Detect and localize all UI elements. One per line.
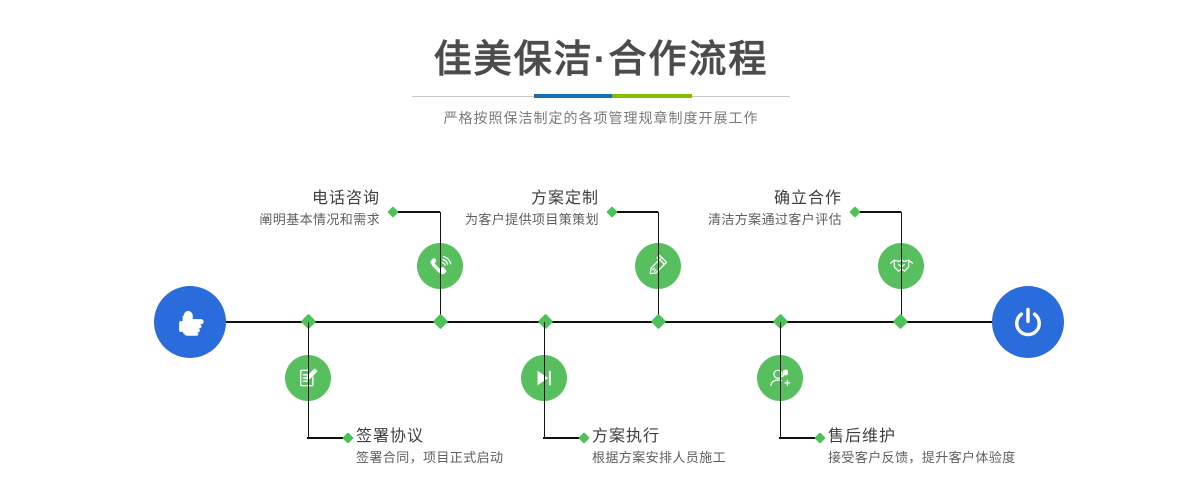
step-label-3: 方案定制 为客户提供项目策策划 — [465, 188, 599, 230]
connector-step-1-horizontal — [395, 211, 440, 213]
step-desc-2: 签署合同，项目正式启动 — [356, 448, 503, 468]
connector-step-6-horizontal — [779, 437, 819, 439]
connector-step-6-vertical — [780, 322, 782, 438]
connector-step-3-vertical — [658, 212, 660, 322]
step-label-1: 电话咨询 阐明基本情况和需求 — [259, 188, 380, 230]
pointing-hand-icon — [170, 302, 210, 342]
axis-marker-step-4 — [538, 314, 554, 330]
connector-step-1-vertical — [440, 212, 442, 322]
connector-step-2-vertical — [308, 322, 310, 438]
step-title-6: 售后维护 — [828, 426, 1016, 448]
label-marker-step-2 — [342, 432, 353, 443]
timeline-end-node[interactable] — [992, 286, 1064, 358]
step-desc-1: 阐明基本情况和需求 — [259, 210, 380, 230]
timeline-start-node[interactable] — [154, 286, 226, 358]
connector-step-5-horizontal — [857, 211, 901, 213]
connector-step-2-horizontal — [307, 437, 347, 439]
label-marker-step-6 — [814, 432, 825, 443]
connector-step-5-vertical — [901, 212, 903, 322]
power-icon — [1008, 302, 1048, 342]
step-label-6: 售后维护 接受客户反馈，提升客户体验度 — [828, 426, 1016, 468]
step-desc-5: 清洁方案通过客户评估 — [708, 210, 842, 230]
connector-step-4-vertical — [544, 322, 546, 438]
label-marker-step-4 — [578, 432, 589, 443]
axis-marker-step-3 — [433, 314, 449, 330]
step-title-3: 方案定制 — [465, 188, 599, 210]
connector-step-3-horizontal — [614, 211, 658, 213]
step-title-1: 电话咨询 — [259, 188, 380, 210]
label-marker-step-3 — [606, 206, 617, 217]
label-marker-step-1 — [387, 206, 398, 217]
step-desc-3: 为客户提供项目策策划 — [465, 210, 599, 230]
step-label-2: 签署协议 签署合同，项目正式启动 — [356, 426, 503, 468]
step-title-5: 确立合作 — [708, 188, 842, 210]
step-title-4: 方案执行 — [592, 426, 726, 448]
axis-marker-step-7 — [893, 314, 909, 330]
connector-step-4-horizontal — [543, 437, 583, 439]
axis-marker-step-5 — [651, 314, 667, 330]
step-label-4: 方案执行 根据方案安排人员施工 — [592, 426, 726, 468]
step-label-5: 确立合作 清洁方案通过客户评估 — [708, 188, 842, 230]
step-desc-4: 根据方案安排人员施工 — [592, 448, 726, 468]
label-marker-step-5 — [849, 206, 860, 217]
step-desc-6: 接受客户反馈，提升客户体验度 — [828, 448, 1016, 468]
step-title-2: 签署协议 — [356, 426, 503, 448]
process-timeline: 电话咨询 阐明基本情况和需求 签署协议 签署合同，项目正式启动 — [0, 0, 1202, 502]
